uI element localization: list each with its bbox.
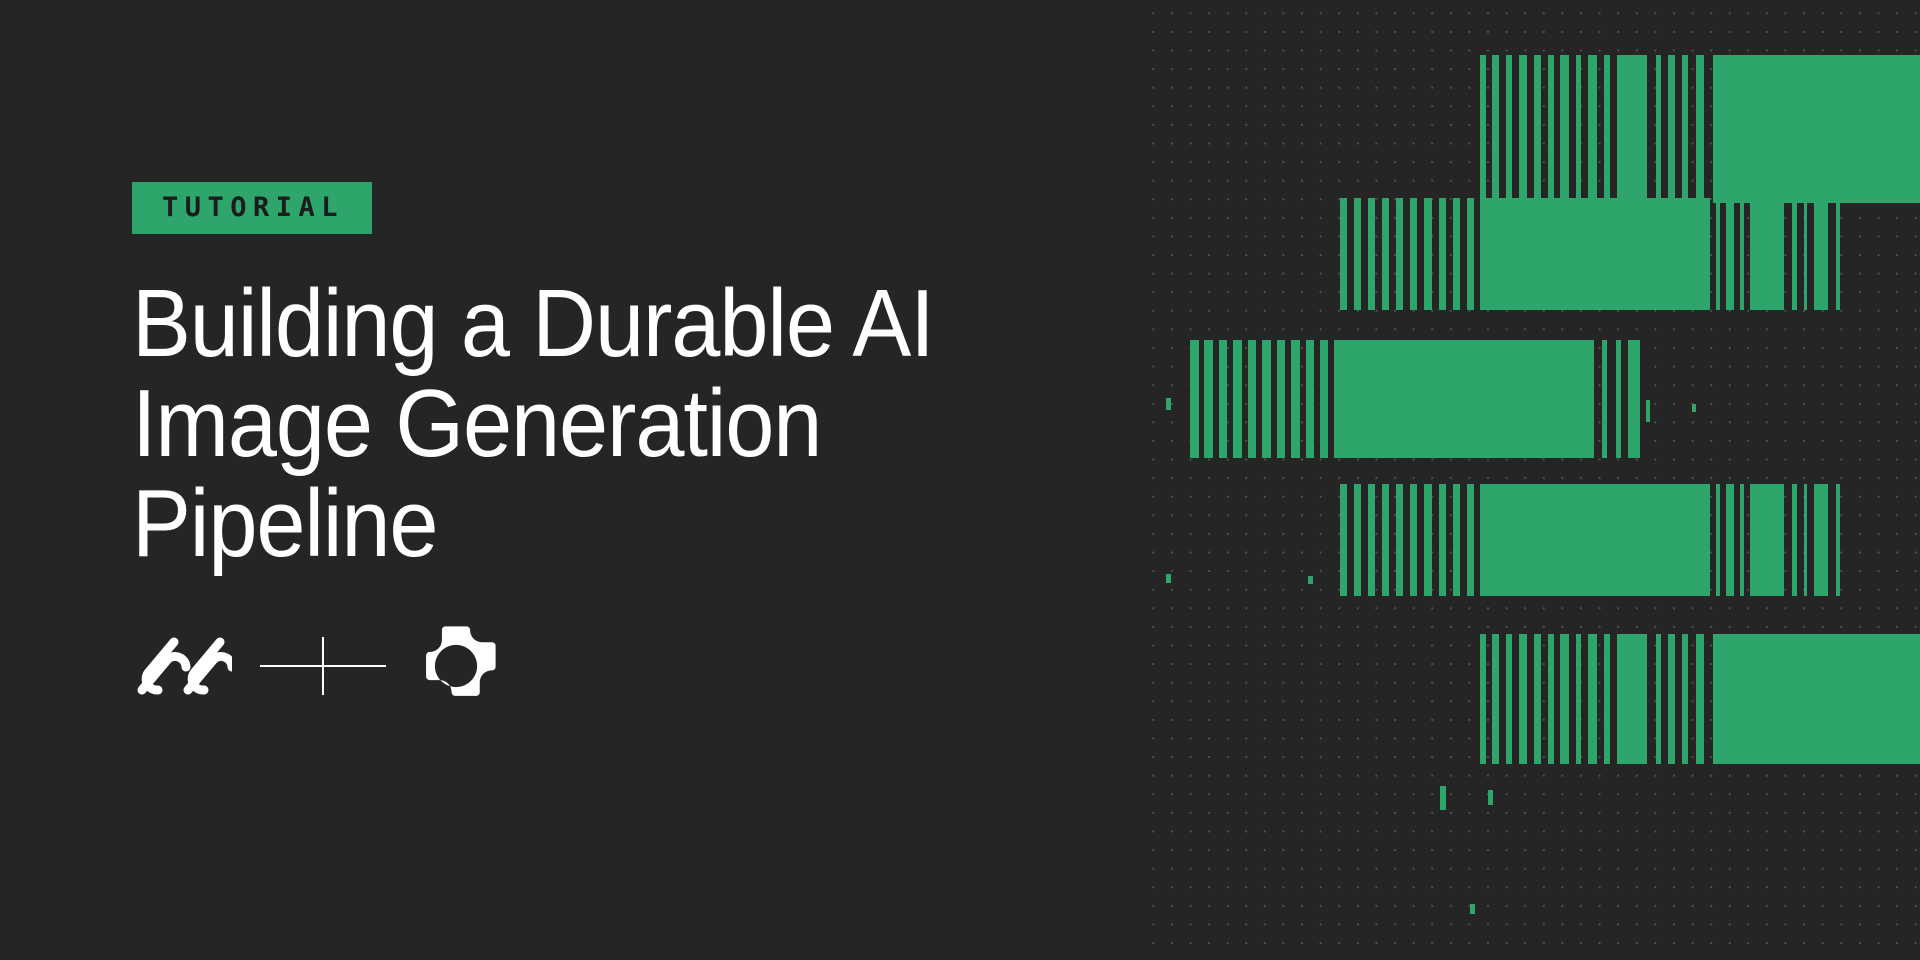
bar-segment [1617,55,1647,203]
bar-segment [1750,198,1784,310]
bar-segment [1396,484,1403,596]
speckle [1600,568,1605,576]
bar-segment [1604,634,1610,764]
bar-segment [1382,198,1389,310]
bar-segment [1480,55,1486,203]
bar-segment [1682,55,1688,203]
speckle [1470,904,1475,914]
bar-segment [1740,198,1744,310]
logo-row [132,629,1082,703]
bar-segment [1368,484,1375,596]
gear-icon [412,622,500,710]
speckle [1646,400,1650,422]
bar-segment [1506,634,1512,764]
content-stack: TUTORIAL Building a Durable AI Image Gen… [132,182,1082,703]
bar-segment [1804,198,1807,310]
bar-segment [1548,634,1554,764]
bar-segment [1814,198,1828,310]
bar-segment [1602,340,1607,458]
bar-segment [1617,634,1647,764]
bar-segment [1576,634,1581,764]
bar-segment [1233,340,1242,458]
bar-segment [1334,340,1594,458]
content-panel: TUTORIAL Building a Durable AI Image Gen… [0,0,1140,960]
bar-segment [1792,484,1797,596]
bar-row [1140,340,1920,458]
bar-segment [1750,484,1784,596]
bar-segment [1804,484,1807,596]
bar-segment [1277,340,1285,458]
separator-vertical-line [322,637,324,695]
bar-segment [1424,198,1432,310]
bar-segment [1534,55,1541,203]
bar-segment [1519,55,1527,203]
speckle [1308,398,1313,407]
bar-segment [1424,484,1432,596]
bar-segment [1836,484,1840,596]
bar-segment [1480,634,1486,764]
speckle [1166,574,1171,583]
bar-segment [1740,484,1744,596]
bar-segment [1354,484,1361,596]
bar-segment [1480,198,1710,310]
bar-segment [1668,634,1675,764]
bar-segment [1453,484,1460,596]
bar-segment [1396,198,1403,310]
bar-segment [1656,55,1661,203]
bar-segment [1656,634,1661,764]
bar-segment [1248,340,1256,458]
bar-segment [1219,340,1227,458]
bar-segment [1560,55,1569,203]
bar-segment [1506,55,1512,203]
bar-segment [1534,634,1541,764]
bar-segment [1480,484,1710,596]
bar-segment [1340,484,1347,596]
bar-segment [1716,484,1720,596]
bar-segment [1628,340,1640,458]
chain-links-icon [132,629,232,703]
bar-segment [1713,634,1920,764]
bar-segment [1368,198,1375,310]
page-title: Building a Durable AI Image Generation P… [132,274,1006,573]
bar-row [1140,198,1920,310]
bar-segment [1439,198,1446,310]
speckle [1440,786,1446,810]
bar-segment [1716,198,1720,310]
bar-segment [1320,340,1328,458]
bar-segment [1204,340,1213,458]
bar-segment [1560,634,1569,764]
bar-segment [1262,340,1271,458]
bar-segment [1836,198,1840,310]
bar-row [1140,484,1920,596]
bar-segment [1682,634,1688,764]
bar-segment [1467,198,1474,310]
bar-segment [1467,484,1474,596]
bar-segment [1492,55,1499,203]
status-badge: TUTORIAL [132,182,372,234]
bar-segment [1696,634,1704,764]
bar-segment [1519,634,1527,764]
bar-segment [1548,55,1554,203]
bar-segment [1291,340,1300,458]
speckle [1646,560,1650,578]
speckle [1488,790,1493,805]
bar-segment [1792,198,1797,310]
barcode-bars-layer [1140,0,1920,960]
bar-segment [1190,340,1199,458]
bar-row [1140,634,1920,764]
bar-segment [1453,198,1460,310]
bar-segment [1439,484,1446,596]
bar-segment [1588,55,1597,203]
bar-segment [1410,198,1417,310]
bar-segment [1382,484,1389,596]
bar-segment [1696,55,1704,203]
bar-segment [1814,484,1828,596]
bar-segment [1604,55,1610,203]
decorative-graphic-panel [1140,0,1920,960]
bar-segment [1668,55,1675,203]
plus-separator-icon [248,629,398,703]
bar-segment [1410,484,1417,596]
bar-segment [1576,55,1581,203]
speckle [1308,576,1313,584]
bar-segment [1340,198,1347,310]
bar-segment [1616,340,1621,458]
bar-row [1140,55,1920,203]
bar-segment [1492,634,1499,764]
bar-segment [1726,484,1734,596]
tutorial-banner: TUTORIAL Building a Durable AI Image Gen… [0,0,1920,960]
speckle [1166,398,1171,410]
speckle [1692,404,1696,412]
bar-segment [1354,198,1361,310]
bar-segment [1713,55,1920,203]
bar-segment [1588,634,1597,764]
bar-segment [1726,198,1734,310]
